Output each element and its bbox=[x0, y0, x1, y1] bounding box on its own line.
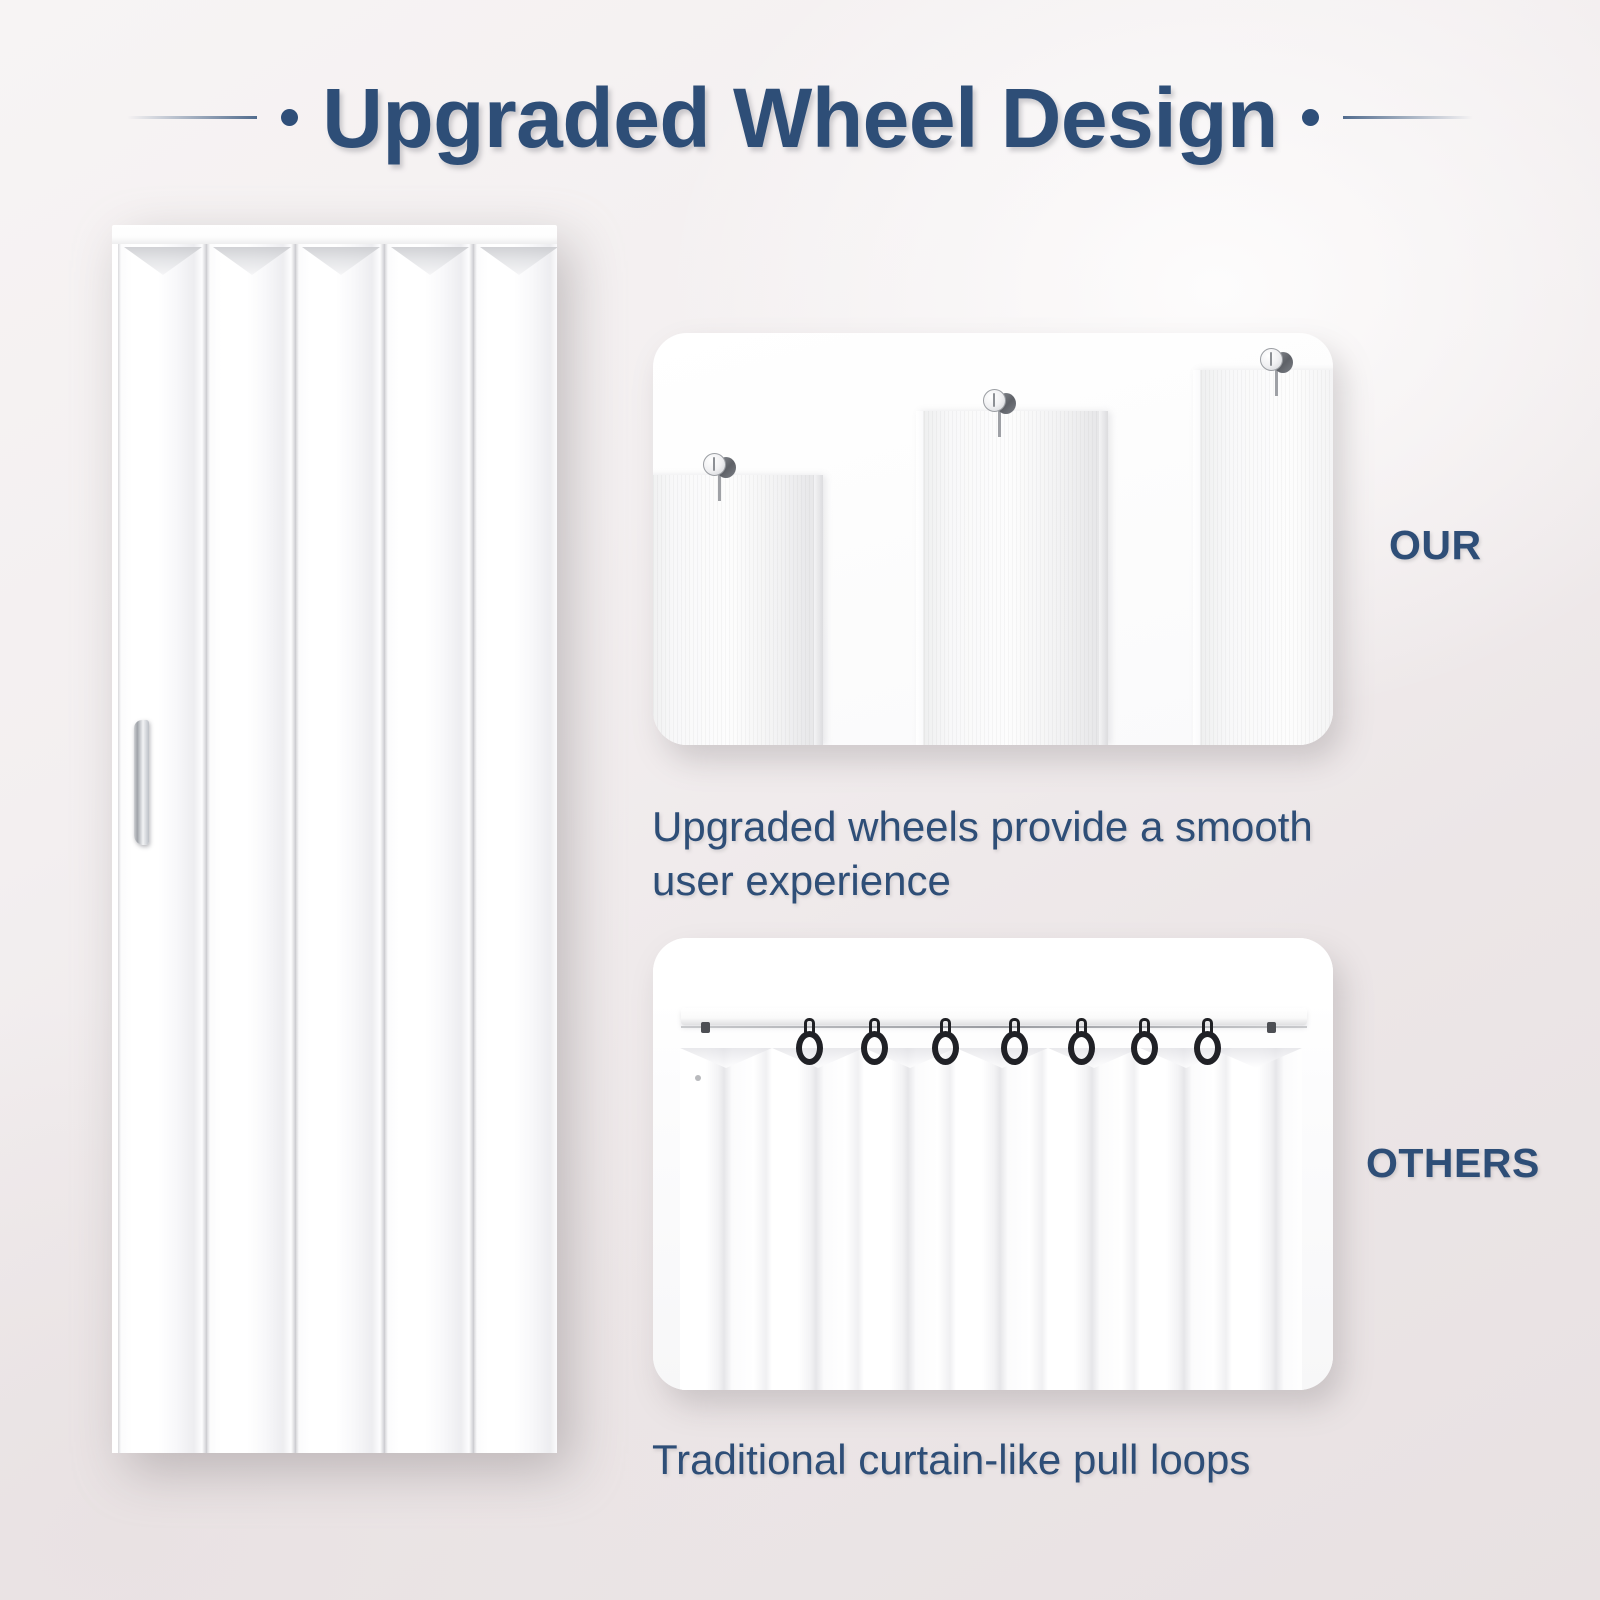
pull-loop-icon bbox=[1128, 1018, 1160, 1080]
bullet-dot-icon-left bbox=[281, 109, 298, 126]
our-caption: Upgraded wheels provide a smooth user ex… bbox=[652, 800, 1382, 908]
others-label: OTHERS bbox=[1366, 1140, 1540, 1187]
slat-notch bbox=[680, 1048, 772, 1068]
pull-loop-icon bbox=[793, 1018, 825, 1080]
door-fold bbox=[118, 244, 207, 1453]
roller-wheel-disc bbox=[703, 453, 726, 476]
our-wheels-photo-card bbox=[653, 333, 1333, 745]
pull-loop-icon bbox=[998, 1018, 1030, 1080]
door-panel-medium bbox=[916, 411, 1108, 745]
door-panel-area bbox=[112, 244, 557, 1453]
pull-loop-icon bbox=[929, 1018, 961, 1080]
rail-endcap-right bbox=[1267, 1022, 1276, 1033]
page-header: Upgraded Wheel Design bbox=[0, 55, 1600, 180]
roller-wheel-stem bbox=[1275, 370, 1278, 396]
roller-wheel-icon bbox=[1260, 348, 1294, 388]
door-handle-icon bbox=[134, 720, 149, 845]
pull-loop-ring bbox=[932, 1031, 959, 1065]
curtain-scene bbox=[653, 938, 1333, 1390]
roller-wheel-icon bbox=[983, 389, 1017, 429]
roller-wheel-disc bbox=[1260, 348, 1283, 371]
folding-door-product-image bbox=[112, 225, 557, 1453]
door-fold bbox=[385, 244, 474, 1453]
pull-loop-ring bbox=[1068, 1031, 1095, 1065]
others-loops-photo-card bbox=[653, 938, 1333, 1390]
pull-loop-ring bbox=[1131, 1031, 1158, 1065]
door-fold bbox=[474, 244, 557, 1453]
our-label: OUR bbox=[1389, 522, 1482, 569]
pull-loop-icon bbox=[1191, 1018, 1223, 1080]
slat-screw-dot bbox=[695, 1075, 701, 1081]
pull-loop-ring bbox=[1001, 1031, 1028, 1065]
pull-loop-ring bbox=[861, 1031, 888, 1065]
page-title: Upgraded Wheel Design bbox=[322, 76, 1278, 160]
header-decoration-line-left bbox=[127, 116, 257, 119]
rail-endcap-left bbox=[701, 1022, 710, 1033]
door-fold bbox=[296, 244, 385, 1453]
pull-loop-icon bbox=[1065, 1018, 1097, 1080]
pull-loop-icon bbox=[858, 1018, 890, 1080]
door-fold bbox=[207, 244, 296, 1453]
door-panel-tall bbox=[1193, 370, 1333, 745]
others-caption: Traditional curtain-like pull loops bbox=[652, 1433, 1382, 1487]
roller-wheel-icon bbox=[703, 453, 737, 493]
door-panel-short bbox=[653, 475, 823, 745]
curtain-door-slats bbox=[680, 1048, 1302, 1390]
pull-loop-ring bbox=[796, 1031, 823, 1065]
header-decoration-line-right bbox=[1343, 116, 1473, 119]
bullet-dot-icon-right bbox=[1302, 109, 1319, 126]
slat-notch bbox=[1210, 1048, 1302, 1068]
roller-wheel-stem bbox=[998, 411, 1001, 437]
pull-loop-ring bbox=[1194, 1031, 1221, 1065]
roller-wheel-disc bbox=[983, 389, 1006, 412]
roller-wheel-stem bbox=[718, 475, 721, 501]
